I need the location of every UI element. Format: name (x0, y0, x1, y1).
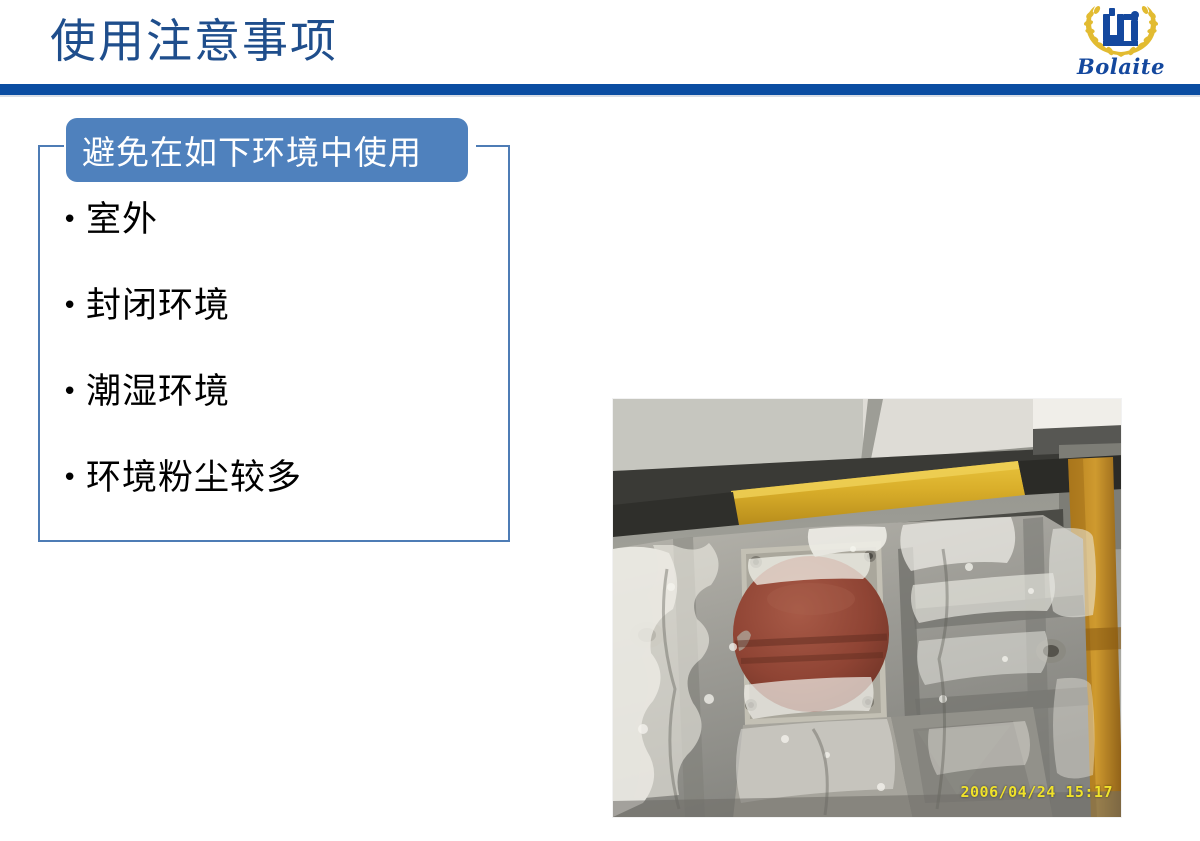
list-item-label: 潮湿环境 (86, 368, 230, 416)
logo-wordmark: Bolaite (1060, 54, 1182, 79)
list-item: • 室外 (62, 196, 492, 282)
bullet-dot-icon: • (62, 282, 86, 330)
brand-logo: Bolaite (1060, 2, 1182, 82)
callout-header-badge: 避免在如下环境中使用 (66, 118, 468, 182)
page-title: 使用注意事项 (50, 8, 338, 74)
list-item: • 潮湿环境 (62, 368, 492, 454)
title-divider (0, 84, 1200, 95)
list-item-label: 环境粉尘较多 (86, 454, 302, 502)
list-item: • 环境粉尘较多 (62, 454, 492, 540)
slide-canvas: 使用注意事项 (0, 0, 1200, 841)
callout-header-label: 避免在如下环境中使用 (66, 126, 422, 174)
list-item-label: 封闭环境 (86, 282, 230, 330)
bullet-dot-icon: • (62, 368, 86, 416)
title-divider-shadow (0, 95, 1200, 97)
list-item-label: 室外 (86, 196, 158, 244)
bolaite-emblem-icon (1078, 2, 1164, 58)
bullet-dot-icon: • (62, 196, 86, 244)
dust-covered-compressor-photo: 2006/04/24 15:17 (612, 398, 1122, 818)
list-item: • 封闭环境 (62, 282, 492, 368)
avoid-conditions-list: • 室外 • 封闭环境 • 潮湿环境 • 环境粉尘较多 (62, 196, 492, 540)
bullet-dot-icon: • (62, 454, 86, 502)
